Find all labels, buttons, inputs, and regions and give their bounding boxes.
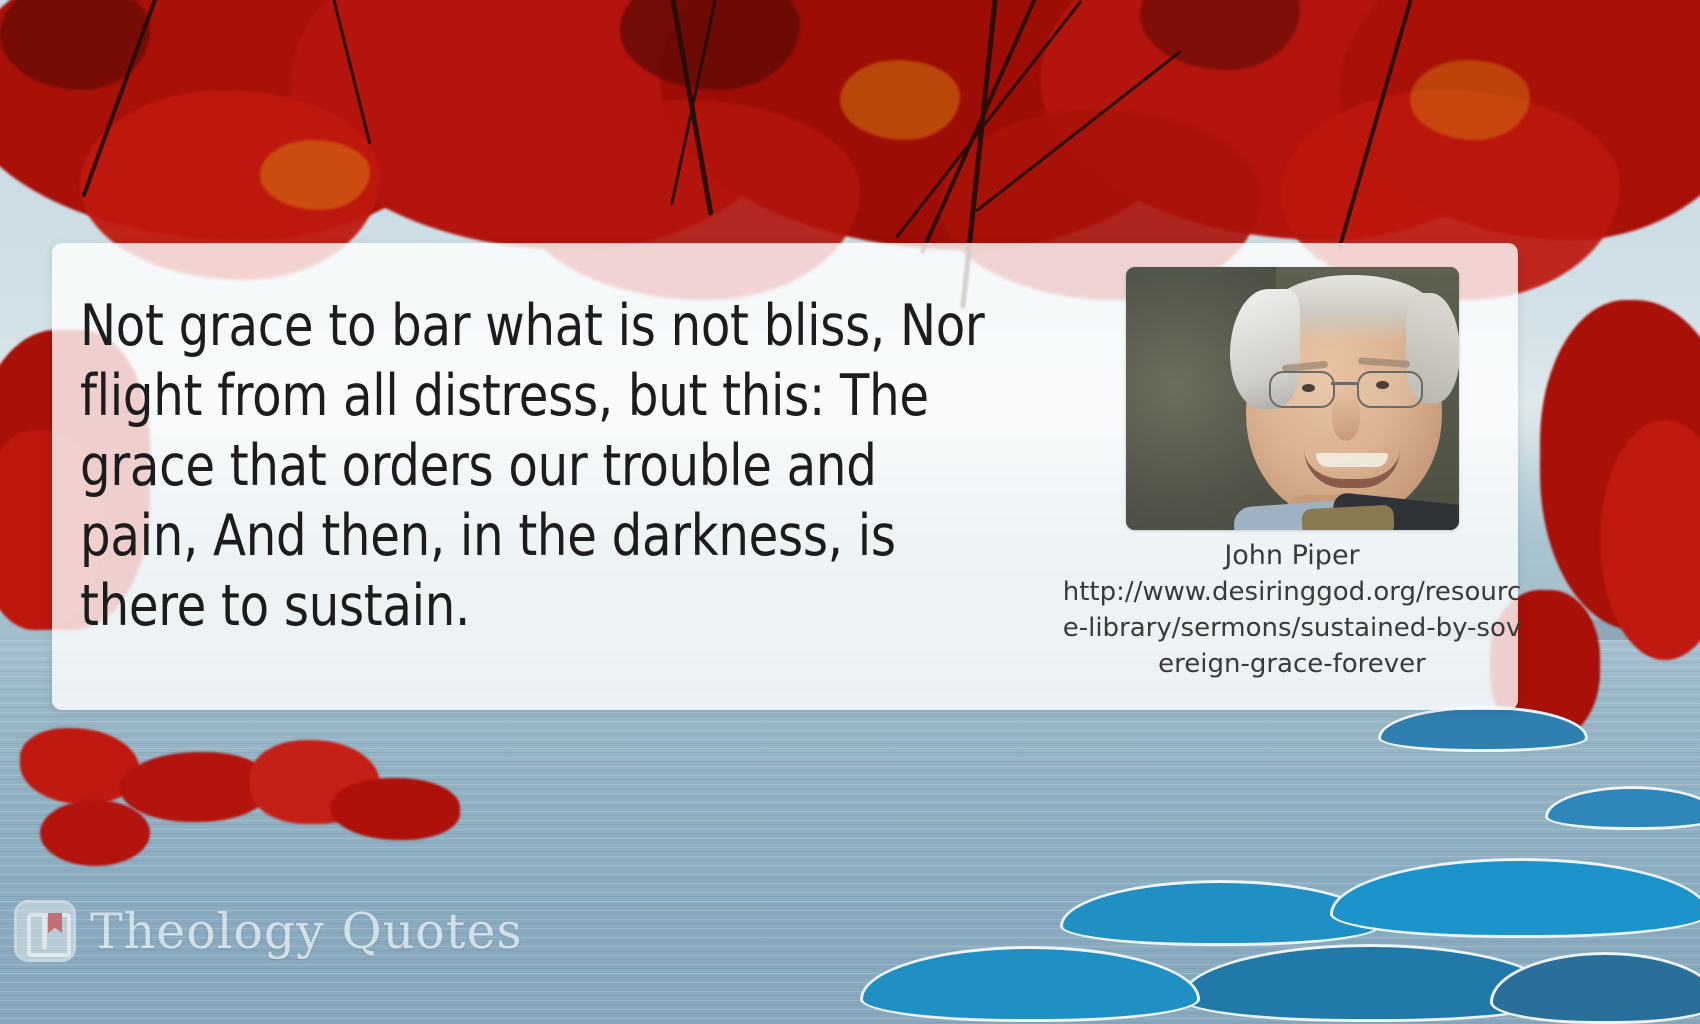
book-bookmark-icon xyxy=(14,900,76,962)
quote-image-canvas: Not grace to bar what is not bliss, Nor … xyxy=(0,0,1700,1024)
source-url[interactable]: http://www.desiringgod.org/resource-libr… xyxy=(1062,574,1522,682)
quote-text: Not grace to bar what is not bliss, Nor … xyxy=(80,291,1003,641)
quote-column: Not grace to bar what is not bliss, Nor … xyxy=(52,243,1062,710)
author-portrait xyxy=(1126,267,1459,530)
quote-card: Not grace to bar what is not bliss, Nor … xyxy=(52,243,1518,710)
brand-name: Theology Quotes xyxy=(90,903,523,960)
attribution-block: John Piper http://www.desiringgod.org/re… xyxy=(1062,538,1522,682)
author-name: John Piper xyxy=(1062,538,1522,574)
watermark: Theology Quotes xyxy=(14,900,523,962)
attribution-column: John Piper http://www.desiringgod.org/re… xyxy=(1062,243,1522,710)
